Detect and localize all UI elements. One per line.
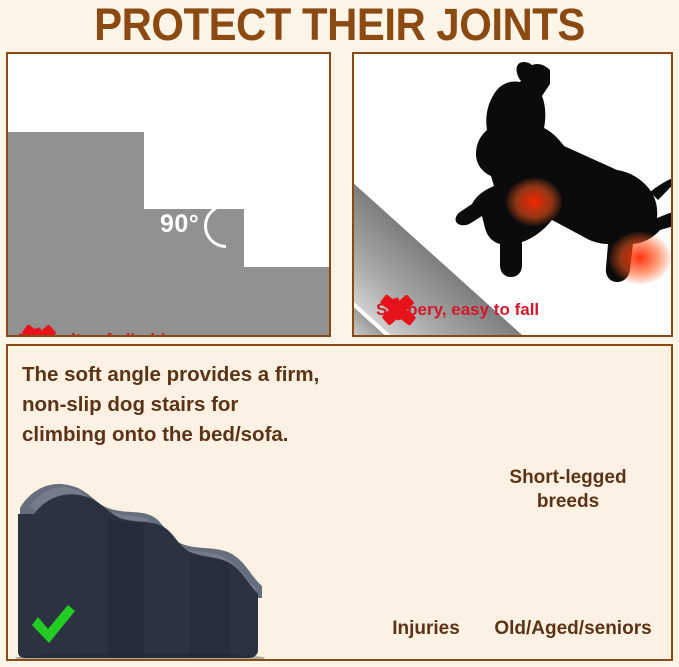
difficulty-climbing-panel: 90° Difficulty of climbing bbox=[6, 52, 331, 337]
description-line-1: The soft angle provides a firm, bbox=[22, 360, 372, 390]
description-line-3: climbing onto the bed/sofa. bbox=[22, 420, 372, 450]
red-x-icon bbox=[376, 289, 420, 331]
green-check-icon bbox=[30, 603, 76, 645]
label-old-aged-seniors: Old/Aged/seniors bbox=[478, 618, 668, 640]
infographic-page: PROTECT THEIR JOINTS 90° Difficulty of c… bbox=[0, 0, 679, 667]
label-short-legged-breeds: Short-legged breeds bbox=[488, 466, 648, 514]
description-line-2: non-slip dog stairs for bbox=[22, 390, 372, 420]
page-title: PROTECT THEIR JOINTS bbox=[24, 2, 655, 48]
difficulty-caption-row: Difficulty of climbing bbox=[18, 330, 186, 337]
dog-silhouette-icon bbox=[454, 60, 671, 320]
slippery-caption-row: Slippery, easy to fall bbox=[376, 300, 539, 320]
slippery-ramp-panel: Slippery, easy to fall bbox=[352, 52, 673, 337]
product-description: The soft angle provides a firm, non-slip… bbox=[22, 360, 372, 450]
product-benefit-panel: The soft angle provides a firm, non-slip… bbox=[6, 344, 673, 661]
stairs-illustration: 90° bbox=[8, 54, 329, 335]
label-injuries: Injuries bbox=[356, 618, 496, 640]
angle-label: 90° bbox=[160, 210, 199, 239]
stair-step-top bbox=[8, 132, 144, 337]
red-x-icon bbox=[18, 319, 62, 337]
stair-step-bottom bbox=[244, 267, 331, 337]
